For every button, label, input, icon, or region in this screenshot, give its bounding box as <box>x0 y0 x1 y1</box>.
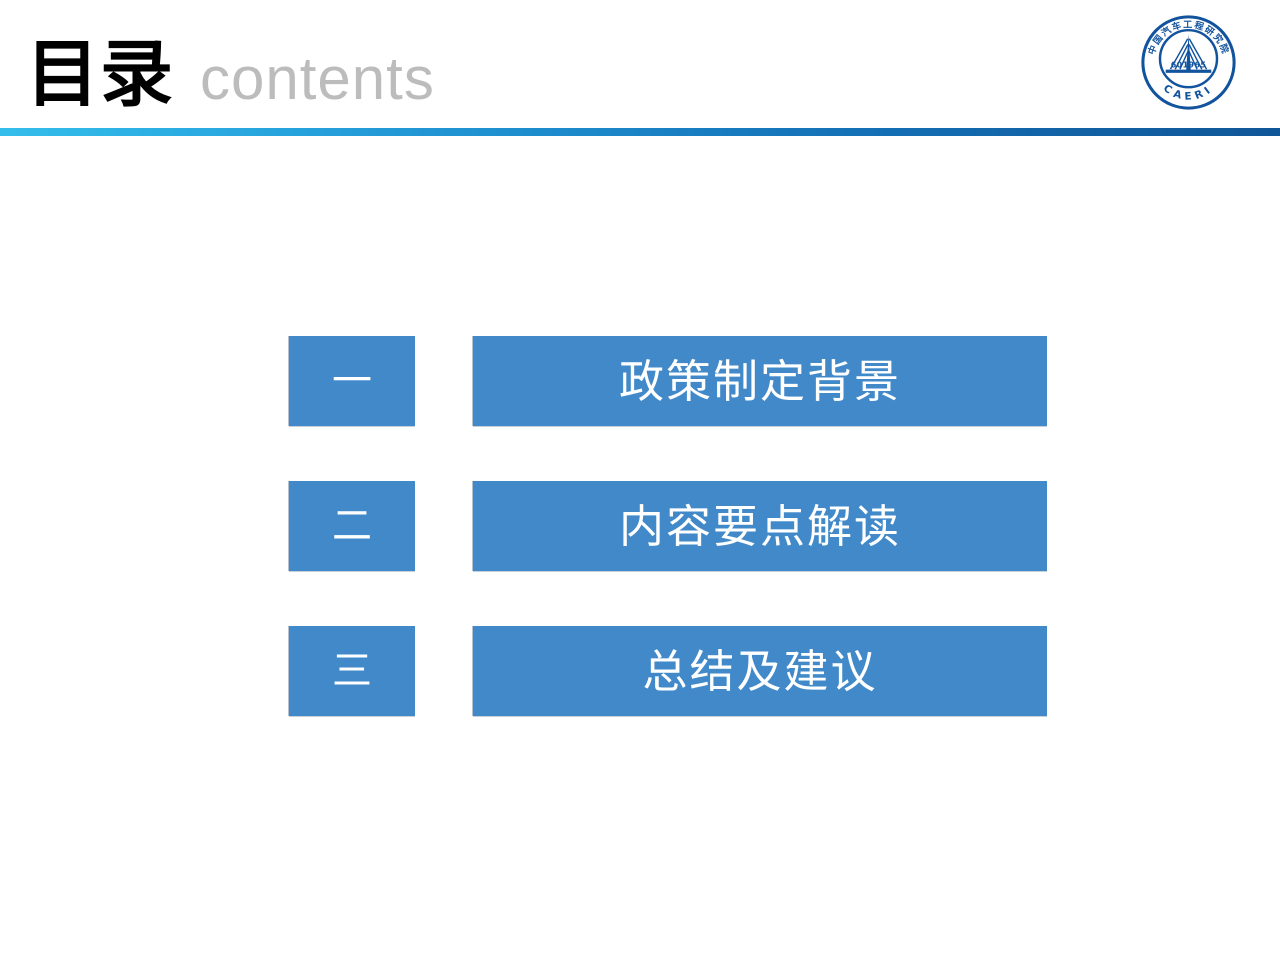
svg-text:601965: 601965 <box>1171 60 1207 69</box>
contents-item-1-number: 一 <box>332 361 372 401</box>
header-divider <box>0 128 1280 136</box>
contents-item-1-gap <box>415 336 473 426</box>
page-title: 目录 contents <box>26 38 435 111</box>
contents-item-3[interactable]: 三 总结及建议 <box>289 626 1047 716</box>
contents-list: 一 政策制定背景 二 内容要点解读 三 总结及建议 <box>289 336 1047 716</box>
contents-item-2-number: 二 <box>332 506 372 546</box>
contents-item-3-number-box[interactable]: 三 <box>289 626 415 716</box>
contents-item-1-label-box[interactable]: 政策制定背景 <box>473 336 1047 426</box>
contents-item-3-gap <box>415 626 473 716</box>
slide-header: 目录 contents <box>0 0 1280 136</box>
contents-item-1-label: 政策制定背景 <box>619 359 901 404</box>
contents-item-2-label-box[interactable]: 内容要点解读 <box>473 481 1047 571</box>
caeri-logo-icon: 601965 中国汽车工程研究院 CAERI <box>1141 15 1236 110</box>
contents-item-3-number: 三 <box>332 651 372 691</box>
contents-item-3-label: 总结及建议 <box>642 649 877 694</box>
contents-item-1[interactable]: 一 政策制定背景 <box>289 336 1047 426</box>
page-title-cn: 目录 <box>26 38 174 111</box>
contents-item-2-gap <box>415 481 473 571</box>
contents-item-2[interactable]: 二 内容要点解读 <box>289 481 1047 571</box>
contents-item-2-label: 内容要点解读 <box>619 504 901 549</box>
page-title-en: contents <box>200 49 435 109</box>
contents-item-2-number-box[interactable]: 二 <box>289 481 415 571</box>
contents-item-3-label-box[interactable]: 总结及建议 <box>473 626 1047 716</box>
contents-item-1-number-box[interactable]: 一 <box>289 336 415 426</box>
slide: 目录 contents <box>0 0 1280 960</box>
